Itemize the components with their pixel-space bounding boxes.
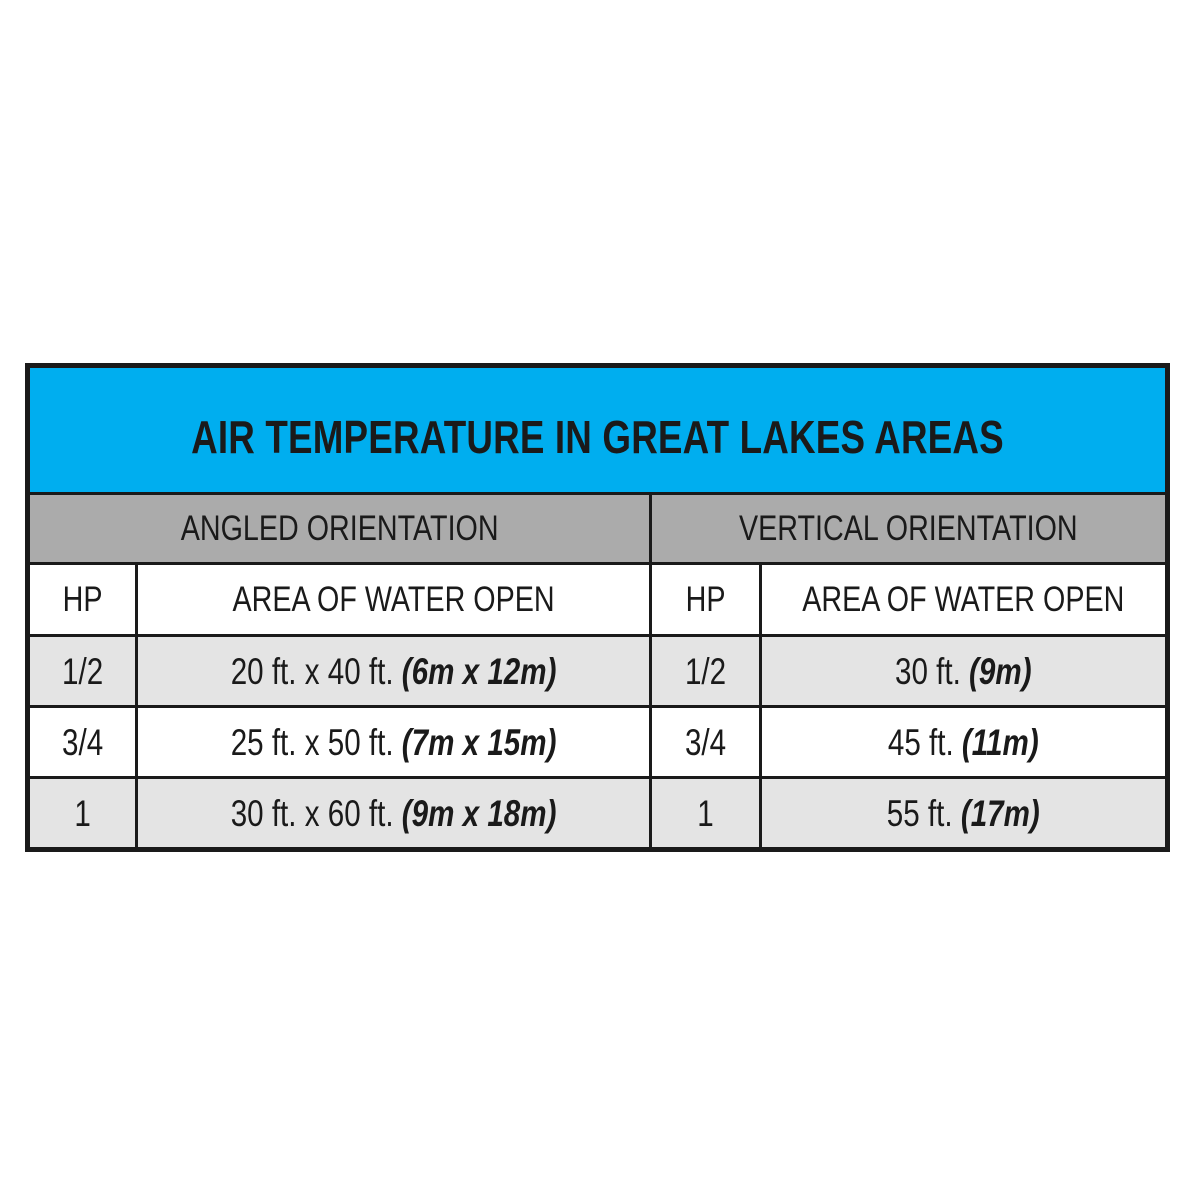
angled-area-imperial: 25 ft. x 50 ft. xyxy=(231,722,394,763)
table-row: 1/2 20 ft. x 40 ft. (6m x 12m) 1/2 30 ft… xyxy=(30,636,1165,707)
vertical-area-metric: (11m) xyxy=(962,722,1039,763)
section-header-vertical-label: VERTICAL ORIENTATION xyxy=(698,511,1118,546)
cell-vertical-hp: 1/2 xyxy=(651,636,761,707)
column-header-vertical-area-label: AREA OF WATER OPEN xyxy=(799,582,1129,617)
vertical-area-value: 55 ft. (17m) xyxy=(803,795,1125,832)
angled-area-value: 20 ft. x 40 ft. (6m x 12m) xyxy=(189,653,598,690)
vertical-hp-value: 1/2 xyxy=(663,653,749,690)
section-header-angled-label: ANGLED ORIENTATION xyxy=(86,511,594,546)
angled-area-metric: (6m x 12m) xyxy=(402,651,557,692)
table-row: 1 30 ft. x 60 ft. (9m x 18m) 1 55 ft. (1… xyxy=(30,778,1165,848)
cell-vertical-area: 45 ft. (11m) xyxy=(761,707,1165,778)
vertical-area-metric: (17m) xyxy=(961,793,1040,834)
column-header-row: HP AREA OF WATER OPEN HP AREA OF WATER O… xyxy=(30,564,1165,636)
cell-angled-hp: 3/4 xyxy=(30,707,137,778)
cell-angled-area: 25 ft. x 50 ft. (7m x 15m) xyxy=(137,707,651,778)
column-header-angled-hp: HP xyxy=(30,564,137,636)
vertical-area-value: 45 ft. (11m) xyxy=(803,724,1125,761)
cell-vertical-hp: 3/4 xyxy=(651,707,761,778)
angled-hp-value: 1/2 xyxy=(41,653,125,690)
angled-area-metric: (7m x 15m) xyxy=(402,722,557,763)
air-temperature-spec-table: AIR TEMPERATURE IN GREAT LAKES AREAS ANG… xyxy=(25,363,1170,852)
section-header-angled: ANGLED ORIENTATION xyxy=(30,494,651,564)
column-header-vertical-hp: HP xyxy=(651,564,761,636)
cell-angled-area: 20 ft. x 40 ft. (6m x 12m) xyxy=(137,636,651,707)
spec-table-grid: AIR TEMPERATURE IN GREAT LAKES AREAS ANG… xyxy=(30,368,1165,847)
table-title-cell: AIR TEMPERATURE IN GREAT LAKES AREAS xyxy=(30,368,1165,494)
angled-area-metric: (9m x 18m) xyxy=(402,793,557,834)
cell-angled-area: 30 ft. x 60 ft. (9m x 18m) xyxy=(137,778,651,848)
cell-vertical-area: 55 ft. (17m) xyxy=(761,778,1165,848)
section-header-row: ANGLED ORIENTATION VERTICAL ORIENTATION xyxy=(30,494,1165,564)
column-header-vertical-hp-label: HP xyxy=(662,582,750,617)
vertical-area-imperial: 45 ft. xyxy=(888,722,954,763)
column-header-angled-area: AREA OF WATER OPEN xyxy=(137,564,651,636)
cell-vertical-hp: 1 xyxy=(651,778,761,848)
vertical-area-imperial: 30 ft. xyxy=(895,651,961,692)
vertical-area-value: 30 ft. (9m) xyxy=(803,653,1125,690)
section-header-vertical: VERTICAL ORIENTATION xyxy=(651,494,1165,564)
column-header-angled-area-label: AREA OF WATER OPEN xyxy=(184,582,603,617)
angled-area-imperial: 20 ft. x 40 ft. xyxy=(231,651,394,692)
column-header-angled-hp-label: HP xyxy=(39,582,125,617)
vertical-area-metric: (9m) xyxy=(969,651,1032,692)
column-header-vertical-area: AREA OF WATER OPEN xyxy=(761,564,1165,636)
angled-hp-value: 1 xyxy=(41,795,125,832)
page-title: AIR TEMPERATURE IN GREAT LAKES AREAS xyxy=(144,400,1052,460)
vertical-area-imperial: 55 ft. xyxy=(887,793,953,834)
angled-area-value: 25 ft. x 50 ft. (7m x 15m) xyxy=(189,724,598,761)
cell-vertical-area: 30 ft. (9m) xyxy=(761,636,1165,707)
vertical-hp-value: 3/4 xyxy=(663,724,749,761)
table-title-row: AIR TEMPERATURE IN GREAT LAKES AREAS xyxy=(30,368,1165,494)
cell-angled-hp: 1/2 xyxy=(30,636,137,707)
angled-hp-value: 3/4 xyxy=(41,724,125,761)
vertical-hp-value: 1 xyxy=(663,795,749,832)
cell-angled-hp: 1 xyxy=(30,778,137,848)
angled-area-value: 30 ft. x 60 ft. (9m x 18m) xyxy=(189,795,598,832)
table-row: 3/4 25 ft. x 50 ft. (7m x 15m) 3/4 45 ft… xyxy=(30,707,1165,778)
angled-area-imperial: 30 ft. x 60 ft. xyxy=(231,793,394,834)
